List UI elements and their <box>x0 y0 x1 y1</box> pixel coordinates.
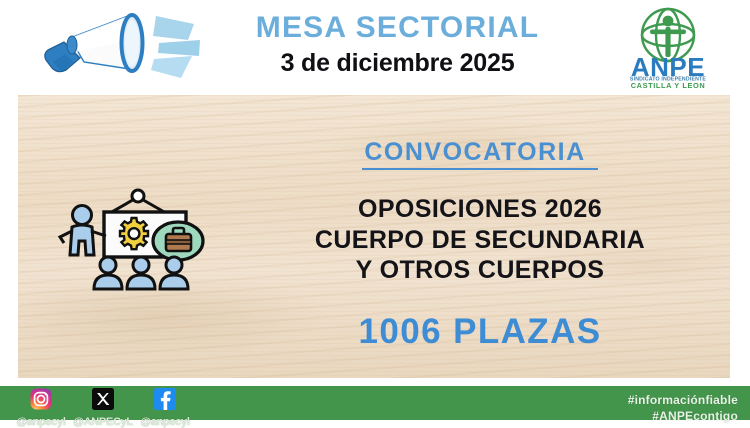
social-link-facebook[interactable]: @anpecyl <box>134 386 196 428</box>
main-content: CONVOCATORIA OPOSICIONES 2026 CUERPO DE … <box>245 130 715 380</box>
announcement-lines: OPOSICIONES 2026 CUERPO DE SECUNDARIA Y … <box>245 170 715 286</box>
social-link-x[interactable]: @ANPECyL <box>72 386 134 428</box>
social-links: @anpecyl @ANPECyL @anp <box>10 386 196 420</box>
anpe-logo: ANPE SINDICATO INDEPENDIENTE CASTILLA Y … <box>608 4 728 90</box>
facebook-icon[interactable] <box>154 388 176 415</box>
header-titles: MESA SECTORIAL 3 de diciembre 2025 <box>205 8 590 88</box>
social-link-instagram[interactable]: @anpecyl <box>10 386 72 428</box>
facebook-handle: @anpecyl <box>140 416 189 428</box>
instagram-icon[interactable] <box>30 388 52 415</box>
hashtag-informacion-fiable: #informaciónfiable <box>628 392 738 408</box>
meeting-presentation-icon <box>38 185 238 295</box>
header: MESA SECTORIAL 3 de diciembre 2025 ANPE <box>0 0 750 93</box>
anpe-region: CASTILLA Y LEON <box>631 81 706 90</box>
instagram-handle: @anpecyl <box>16 416 65 428</box>
x-twitter-icon[interactable] <box>92 388 114 415</box>
poster-root: MESA SECTORIAL 3 de diciembre 2025 ANPE <box>0 0 750 420</box>
page-title: MESA SECTORIAL <box>205 8 590 44</box>
announcement-line-2: CUERPO DE SECUNDARIA <box>245 225 715 256</box>
announcement-line-1: OPOSICIONES 2026 <box>245 194 715 225</box>
megaphone-icon <box>18 6 208 86</box>
x-handle: @ANPECyL <box>73 416 133 428</box>
footer: @anpecyl @ANPECyL @anp <box>0 386 750 420</box>
plazas-count: 1006 PLAZAS <box>245 286 715 352</box>
convocatoria-heading: CONVOCATORIA <box>362 130 597 170</box>
announcement-line-3: Y OTROS CUERPOS <box>245 255 715 286</box>
hashtag-anpe-contigo: #ANPEcontigo <box>628 408 738 424</box>
event-date: 3 de diciembre 2025 <box>205 44 590 77</box>
